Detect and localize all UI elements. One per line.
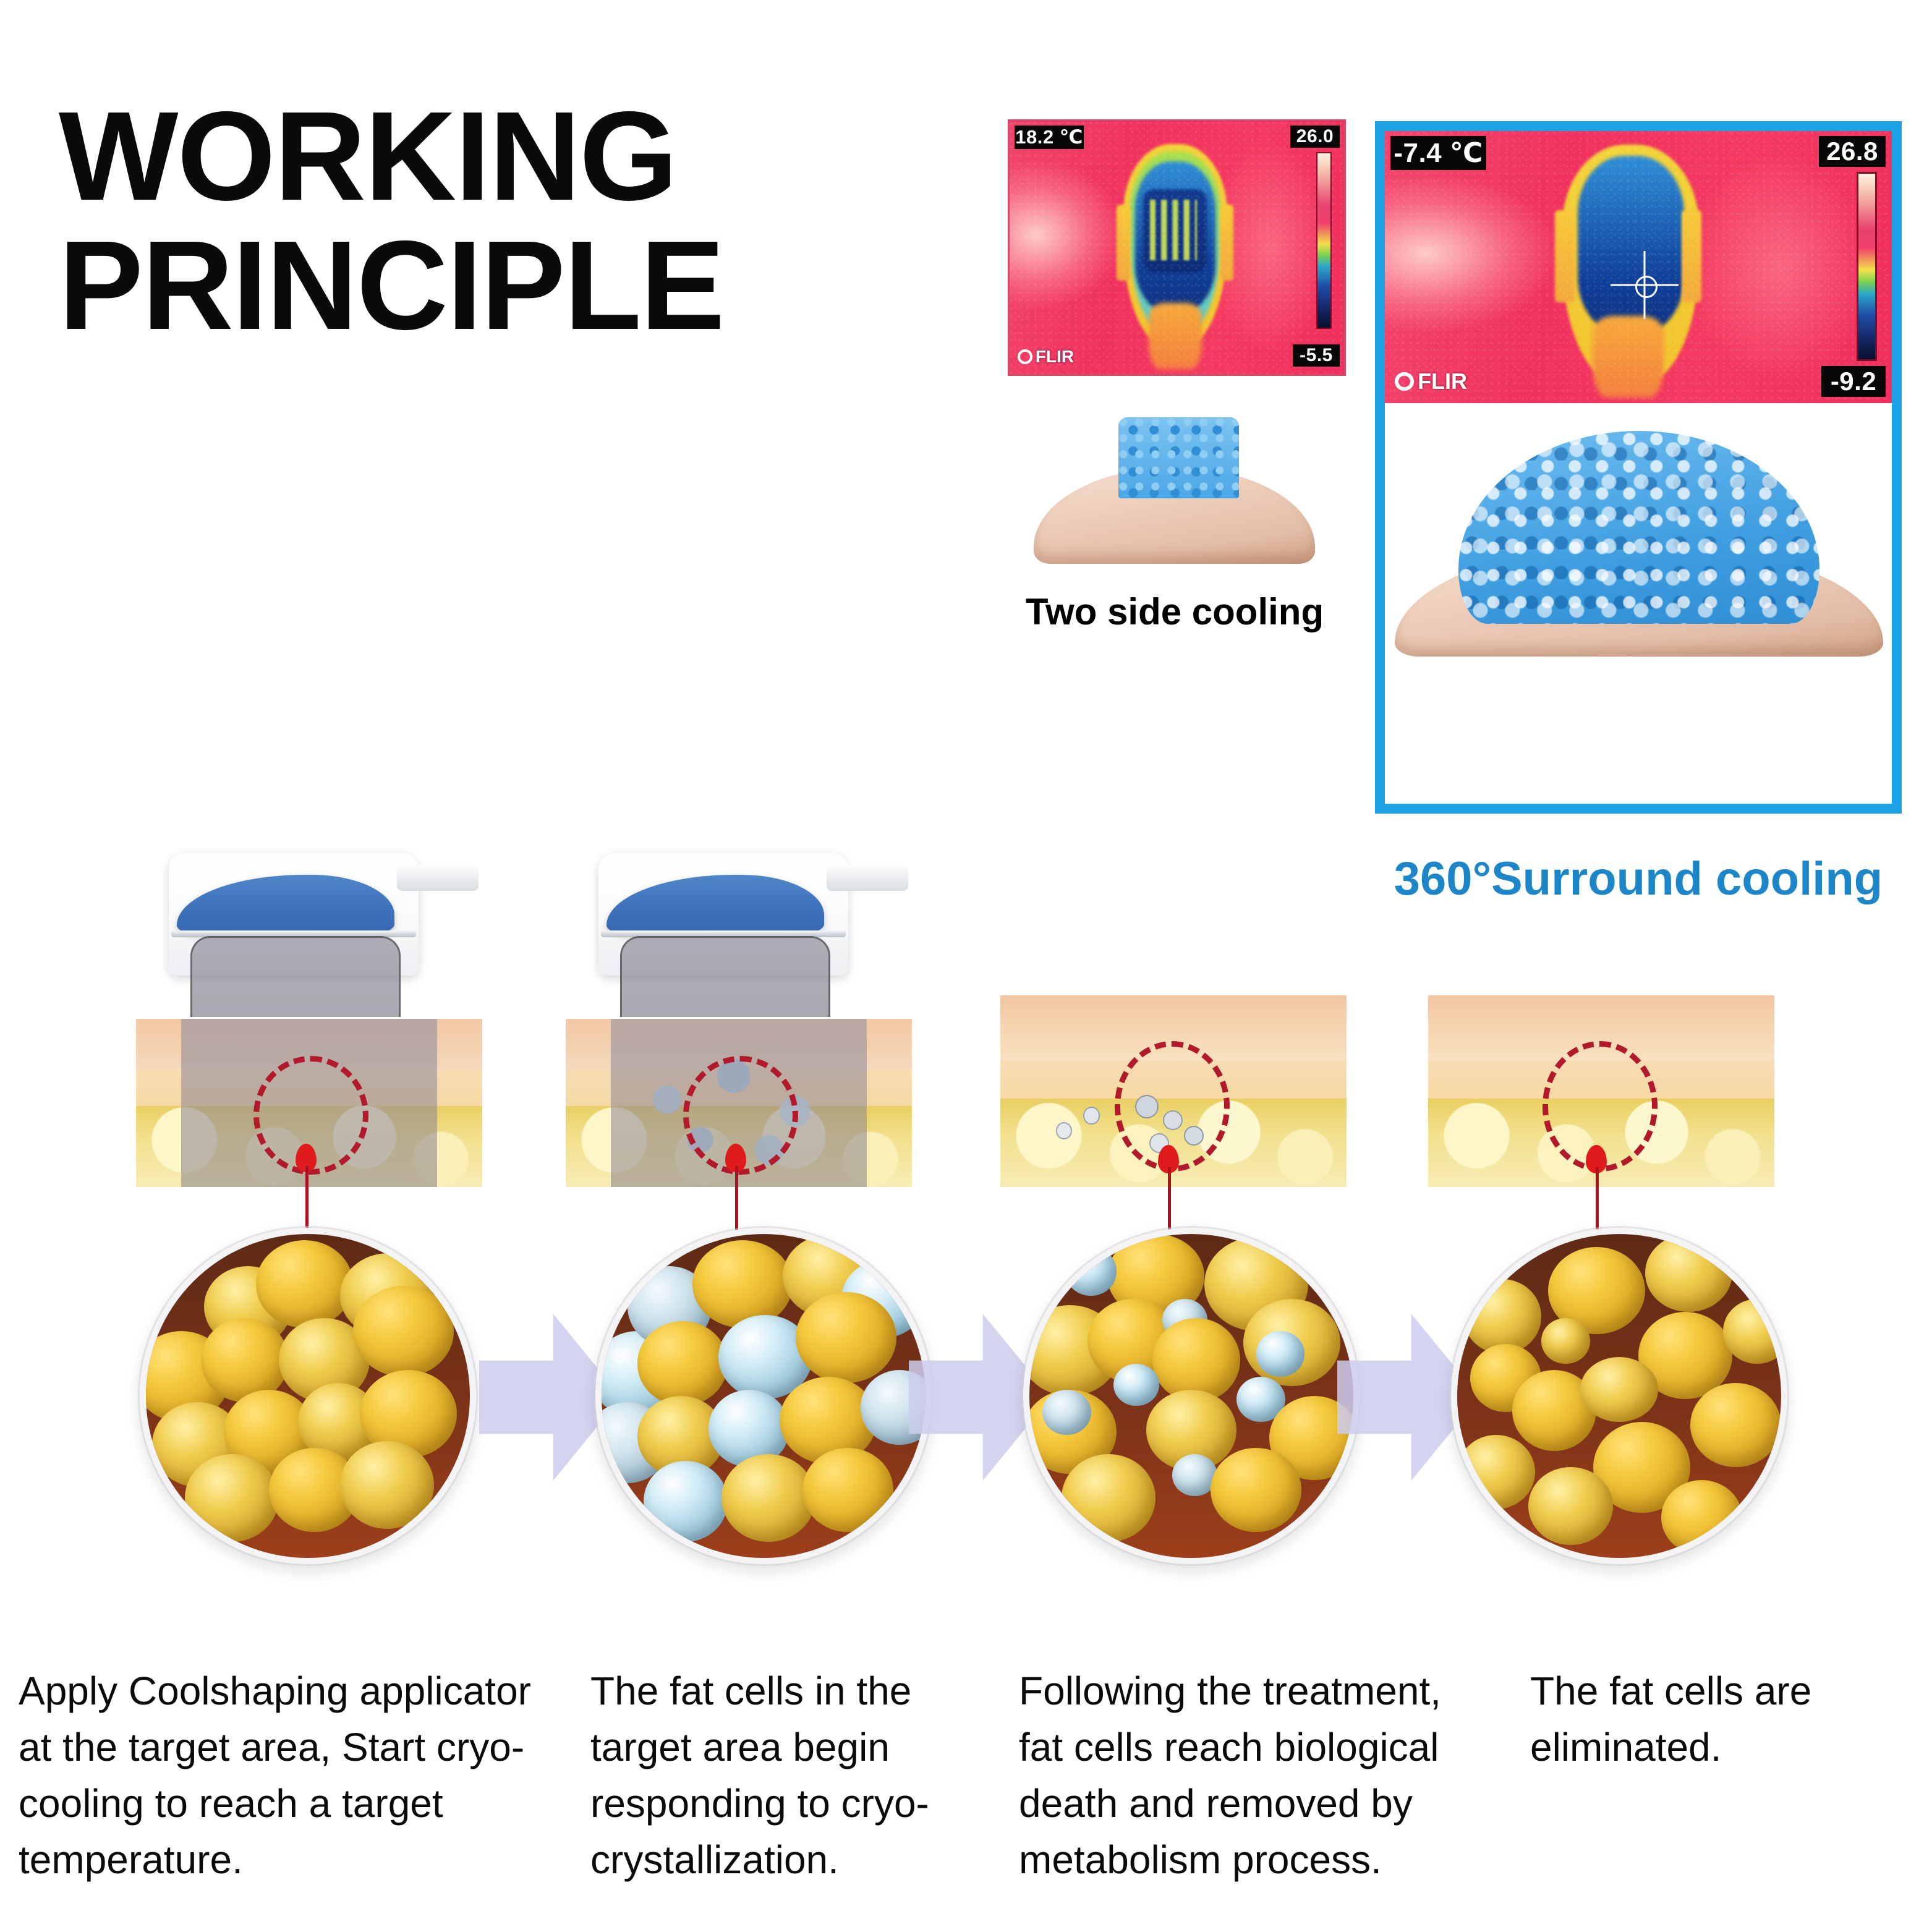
fat-cooling-block-left xyxy=(1118,417,1240,498)
fat-cell xyxy=(1211,1448,1301,1532)
device-hose-2 xyxy=(827,865,908,891)
fat-cell xyxy=(1528,1467,1612,1545)
thermal-side-tab-right-l xyxy=(1555,210,1575,303)
thermal-image-360-surround: -7.4 ℃ 26.8 -9.2 FLIR xyxy=(1385,131,1892,403)
magnified-fat-cells-step4 xyxy=(1451,1228,1787,1564)
fat-cell xyxy=(692,1240,793,1327)
flir-mark-icon-right xyxy=(1395,372,1414,391)
flir-text-right: FLIR xyxy=(1418,368,1467,394)
thermal-side-tab-left-l xyxy=(1117,205,1130,281)
fat-cell xyxy=(1463,1279,1541,1354)
thermal-blob-cold-right xyxy=(1578,156,1684,335)
fat-cell xyxy=(637,1321,728,1405)
thermal-scale-min-right: -9.2 xyxy=(1821,366,1886,397)
page-title-line1: WORKING xyxy=(59,91,893,221)
device-hose-1 xyxy=(397,865,479,891)
dead-fat-cell xyxy=(1163,1110,1183,1130)
thermal-scale-max-right: 26.8 xyxy=(1819,136,1886,167)
crystallized-fat-cell xyxy=(1256,1331,1305,1376)
thermal-texture-left xyxy=(1150,200,1197,260)
thermal-scale-max-left: 26.0 xyxy=(1290,126,1340,148)
caption-360-surround-cooling: 360°Surround cooling xyxy=(1375,852,1902,906)
flir-mark-icon-left xyxy=(1018,349,1032,364)
thermal-blob-core-left xyxy=(1143,189,1207,273)
fat-cell xyxy=(796,1292,896,1383)
fat-cell xyxy=(353,1286,453,1377)
fat-cell xyxy=(185,1454,279,1541)
fat-cell xyxy=(340,1441,434,1528)
dead-fat-cell xyxy=(1056,1122,1072,1140)
tissue-mound-two-side xyxy=(1034,408,1315,564)
fat-cell xyxy=(1723,1299,1787,1364)
fat-cell xyxy=(1457,1435,1535,1510)
fat-cell xyxy=(256,1240,353,1327)
applicator-device-step1 xyxy=(158,825,430,1023)
fat-cell xyxy=(721,1454,815,1541)
applicator-device-step2 xyxy=(587,825,859,1023)
thermal-colorbar-left xyxy=(1316,152,1332,329)
thermal-blob-warm-left xyxy=(1123,144,1227,346)
fat-cell xyxy=(1580,1357,1658,1422)
magnified-fat-cells-step3 xyxy=(1023,1228,1360,1564)
page-title-line2: PRINCIPLE xyxy=(59,221,893,350)
step-caption-1: Apply Coolshaping applicator at the targ… xyxy=(19,1663,563,1888)
magnified-fat-cells-step1 xyxy=(140,1228,476,1564)
dead-fat-cell xyxy=(1135,1095,1159,1118)
caption-two-side-cooling: Two side cooling xyxy=(1002,590,1348,633)
thermal-crosshair-icon xyxy=(1611,251,1679,319)
crystallized-fat-cell xyxy=(1042,1390,1091,1435)
thermal-colorbar-right xyxy=(1857,172,1877,361)
thermal-handle-left xyxy=(1149,303,1202,368)
flir-logo-right: FLIR xyxy=(1395,368,1467,394)
crystallized-fat-cell xyxy=(1113,1364,1159,1406)
step-caption-4: The fat cells are eliminated. xyxy=(1530,1663,1876,1776)
flir-logo-left: FLIR xyxy=(1018,347,1074,367)
dead-fat-cell xyxy=(1184,1126,1204,1146)
thermal-temp-badge-left: 18.2 ℃ xyxy=(1015,126,1084,149)
thermal-scale-min-left: -5.5 xyxy=(1293,344,1340,367)
flir-text-left: FLIR xyxy=(1036,347,1074,367)
crystallized-fat-cell xyxy=(644,1461,728,1542)
fat-cell xyxy=(1645,1234,1732,1312)
thermal-image-two-side-cooling: 18.2 ℃ 26.0 -5.5 FLIR xyxy=(1008,119,1346,376)
surround-cooling-panel: -7.4 ℃ 26.8 -9.2 FLIR xyxy=(1375,121,1902,814)
thermal-heatmap-right xyxy=(1385,131,1892,403)
fat-cell xyxy=(802,1448,893,1532)
fat-cell xyxy=(1690,1383,1781,1467)
fat-cooling-dome-right xyxy=(1458,431,1820,624)
tissue-mound-360-surround xyxy=(1395,422,1883,657)
thermal-handle-right xyxy=(1593,316,1664,398)
fat-cell xyxy=(1541,1318,1590,1363)
thermal-side-tab-right-r xyxy=(1682,210,1702,303)
fat-cell xyxy=(1062,1454,1155,1541)
thermal-heatmap-left xyxy=(1010,121,1344,374)
device-suction-cup-2 xyxy=(620,936,830,1017)
step-caption-3: Following the treatment, fat cells reach… xyxy=(1019,1663,1476,1888)
magnified-fat-cells-step2 xyxy=(595,1228,932,1564)
thermal-blob-cold-left xyxy=(1135,161,1215,313)
device-suction-cup-1 xyxy=(190,936,401,1017)
thermal-temp-badge-right: -7.4 ℃ xyxy=(1390,136,1486,170)
fat-cell xyxy=(1661,1480,1742,1555)
crystallized-fat-cell xyxy=(1065,1247,1117,1296)
step-caption-2: The fat cells in the target area begin r… xyxy=(590,1663,937,1888)
page-title: WORKING PRINCIPLE xyxy=(59,91,893,350)
thermal-blob-warm-right xyxy=(1562,145,1699,384)
thermal-blob-mid-left xyxy=(1130,151,1220,333)
dead-fat-cell xyxy=(1083,1107,1099,1125)
thermal-side-tab-left-r xyxy=(1220,205,1234,281)
